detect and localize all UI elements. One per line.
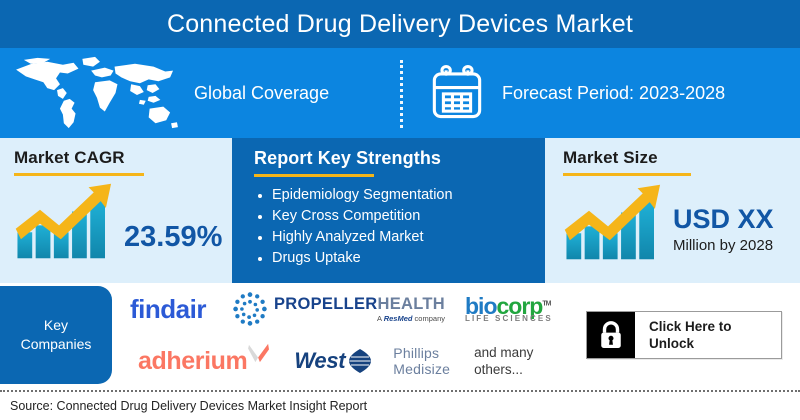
west-word: West	[294, 348, 345, 374]
logo-propeller-health: PROPELLERHEALTH A ResMed company	[232, 291, 445, 327]
market-cagr-title: Market CAGR	[14, 148, 232, 168]
infographic-root: Connected Drug Delivery Devices Market	[0, 0, 800, 420]
world-map-icon	[6, 54, 188, 132]
lock-icon	[587, 312, 635, 358]
title-underline	[14, 173, 144, 176]
logo-adherium: adherium	[138, 347, 270, 376]
unlock-button[interactable]: Click Here to Unlock	[586, 311, 782, 359]
unlock-button-label: Click Here to Unlock	[635, 318, 732, 352]
health-word: HEALTH	[378, 295, 446, 313]
market-cagr-panel: Market CAGR	[0, 138, 232, 283]
logo-phillips-medisize: Phillips Medisize	[393, 345, 450, 377]
global-coverage-label: Global Coverage	[194, 83, 329, 104]
adherium-word: adherium	[138, 347, 247, 376]
forecast-period-block: Forecast Period: 2023-2028	[400, 48, 800, 138]
unlock-label-line2: Unlock	[649, 335, 732, 352]
market-cagr-value: 23.59%	[124, 221, 222, 254]
market-size-panel: Market Size	[545, 138, 800, 283]
propeller-subtitle: A ResMed company	[274, 315, 445, 323]
title-underline	[254, 174, 374, 177]
footer-bar: Source: Connected Drug Delivery Devices …	[0, 390, 800, 420]
stats-row: Market CAGR	[0, 138, 800, 283]
growth-chart-arrow-icon	[563, 182, 667, 262]
logo-biocorp: biocorpTM LIFE SCIENCES	[465, 295, 553, 323]
biocorp-subtitle: LIFE SCIENCES	[465, 315, 553, 323]
market-size-title: Market Size	[563, 148, 800, 168]
forecast-period-label: Forecast Period: 2023-2028	[502, 83, 725, 104]
title-underline	[563, 173, 691, 176]
key-companies-label-line2: Companies	[21, 335, 92, 354]
calendar-icon	[426, 62, 488, 124]
global-coverage-block: Global Coverage	[0, 48, 400, 138]
banner-divider	[400, 60, 403, 128]
many-others-line1: and many	[474, 344, 533, 361]
list-item: Drugs Uptake	[254, 248, 545, 269]
list-item: Epidemiology Segmentation	[254, 185, 545, 206]
dot-ring-icon	[232, 291, 268, 327]
many-others-label: and many others...	[474, 344, 533, 378]
market-size-subtitle: Million by 2028	[673, 236, 774, 256]
report-key-strengths-title: Report Key Strengths	[254, 148, 545, 169]
trademark-icon: TM	[542, 300, 550, 307]
key-companies-label-line1: Key	[21, 316, 92, 335]
list-item: Key Cross Competition	[254, 206, 545, 227]
market-size-value: USD XX	[673, 204, 774, 234]
source-text: Source: Connected Drug Delivery Devices …	[10, 399, 367, 413]
check-swoosh-icon	[248, 343, 270, 363]
logo-findair: findair	[130, 294, 206, 325]
key-companies-section: Key Companies findair	[0, 283, 800, 388]
phillips-line1: Phillips	[393, 345, 450, 361]
header-bar: Connected Drug Delivery Devices Market	[0, 0, 800, 48]
page-title: Connected Drug Delivery Devices Market	[167, 10, 633, 39]
report-key-strengths-panel: Report Key Strengths Epidemiology Segmen…	[232, 138, 545, 283]
key-companies-label: Key Companies	[0, 286, 112, 384]
phillips-line2: Medisize	[393, 361, 450, 377]
unlock-label-line1: Click Here to	[649, 318, 732, 335]
propeller-word: PROPELLER	[274, 295, 378, 313]
many-others-line2: others...	[474, 361, 533, 378]
banner-strip: Global Coverage	[0, 48, 800, 138]
strengths-list: Epidemiology Segmentation Key Cross Comp…	[254, 185, 545, 269]
west-diamond-icon	[347, 348, 373, 374]
logo-west: West	[294, 348, 373, 374]
growth-chart-arrow-icon	[14, 182, 118, 260]
list-item: Highly Analyzed Market	[254, 227, 545, 248]
